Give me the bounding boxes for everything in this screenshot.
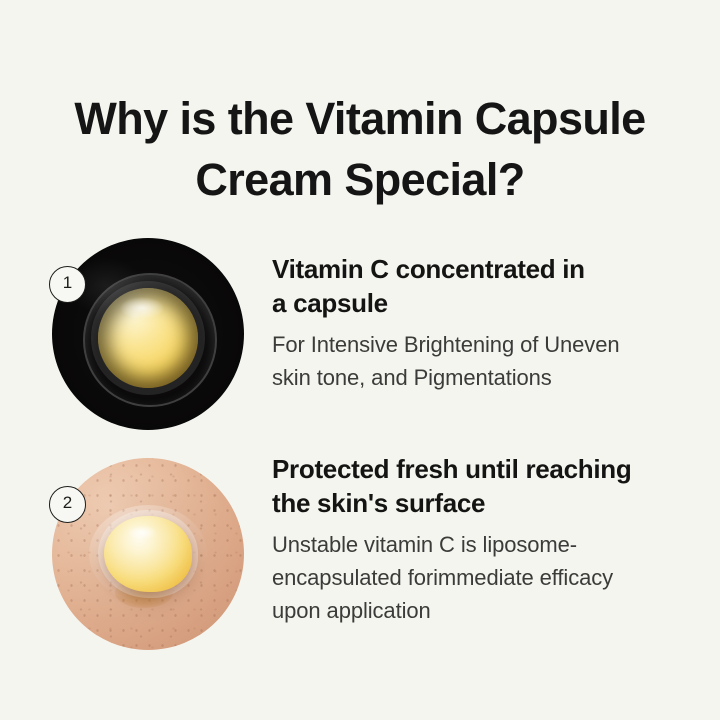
feature-copy-1: Vitamin C concentrated in a capsule For … <box>272 252 682 394</box>
feature-copy-2: Protected fresh until reaching the skin'… <box>272 452 682 627</box>
feature-image-1 <box>52 238 244 430</box>
page-title: Why is the Vitamin Capsule Cream Special… <box>40 88 680 210</box>
feature-body-2: Unstable vitamin C is liposome- encapsul… <box>272 528 682 627</box>
skin-photo <box>52 458 244 650</box>
feature-image-2 <box>52 458 244 650</box>
feature-row-1: 1 Vitamin C concentrated in a capsule Fo… <box>0 232 720 432</box>
vitamin-capsule-icon <box>104 516 192 593</box>
promo-poster: Why is the Vitamin Capsule Cream Special… <box>0 0 720 720</box>
black-plate-photo <box>52 238 244 430</box>
feature-row-2: 2 Protected fresh until reaching the ski… <box>0 452 720 652</box>
step-number-badge-2: 2 <box>49 486 86 523</box>
feature-title-1: Vitamin C concentrated in a capsule <box>272 252 682 320</box>
feature-title-2: Protected fresh until reaching the skin'… <box>272 452 682 520</box>
vitamin-capsule-icon <box>98 288 198 388</box>
feature-body-1: For Intensive Brightening of Uneven skin… <box>272 328 682 394</box>
step-number-badge-1: 1 <box>49 266 86 303</box>
